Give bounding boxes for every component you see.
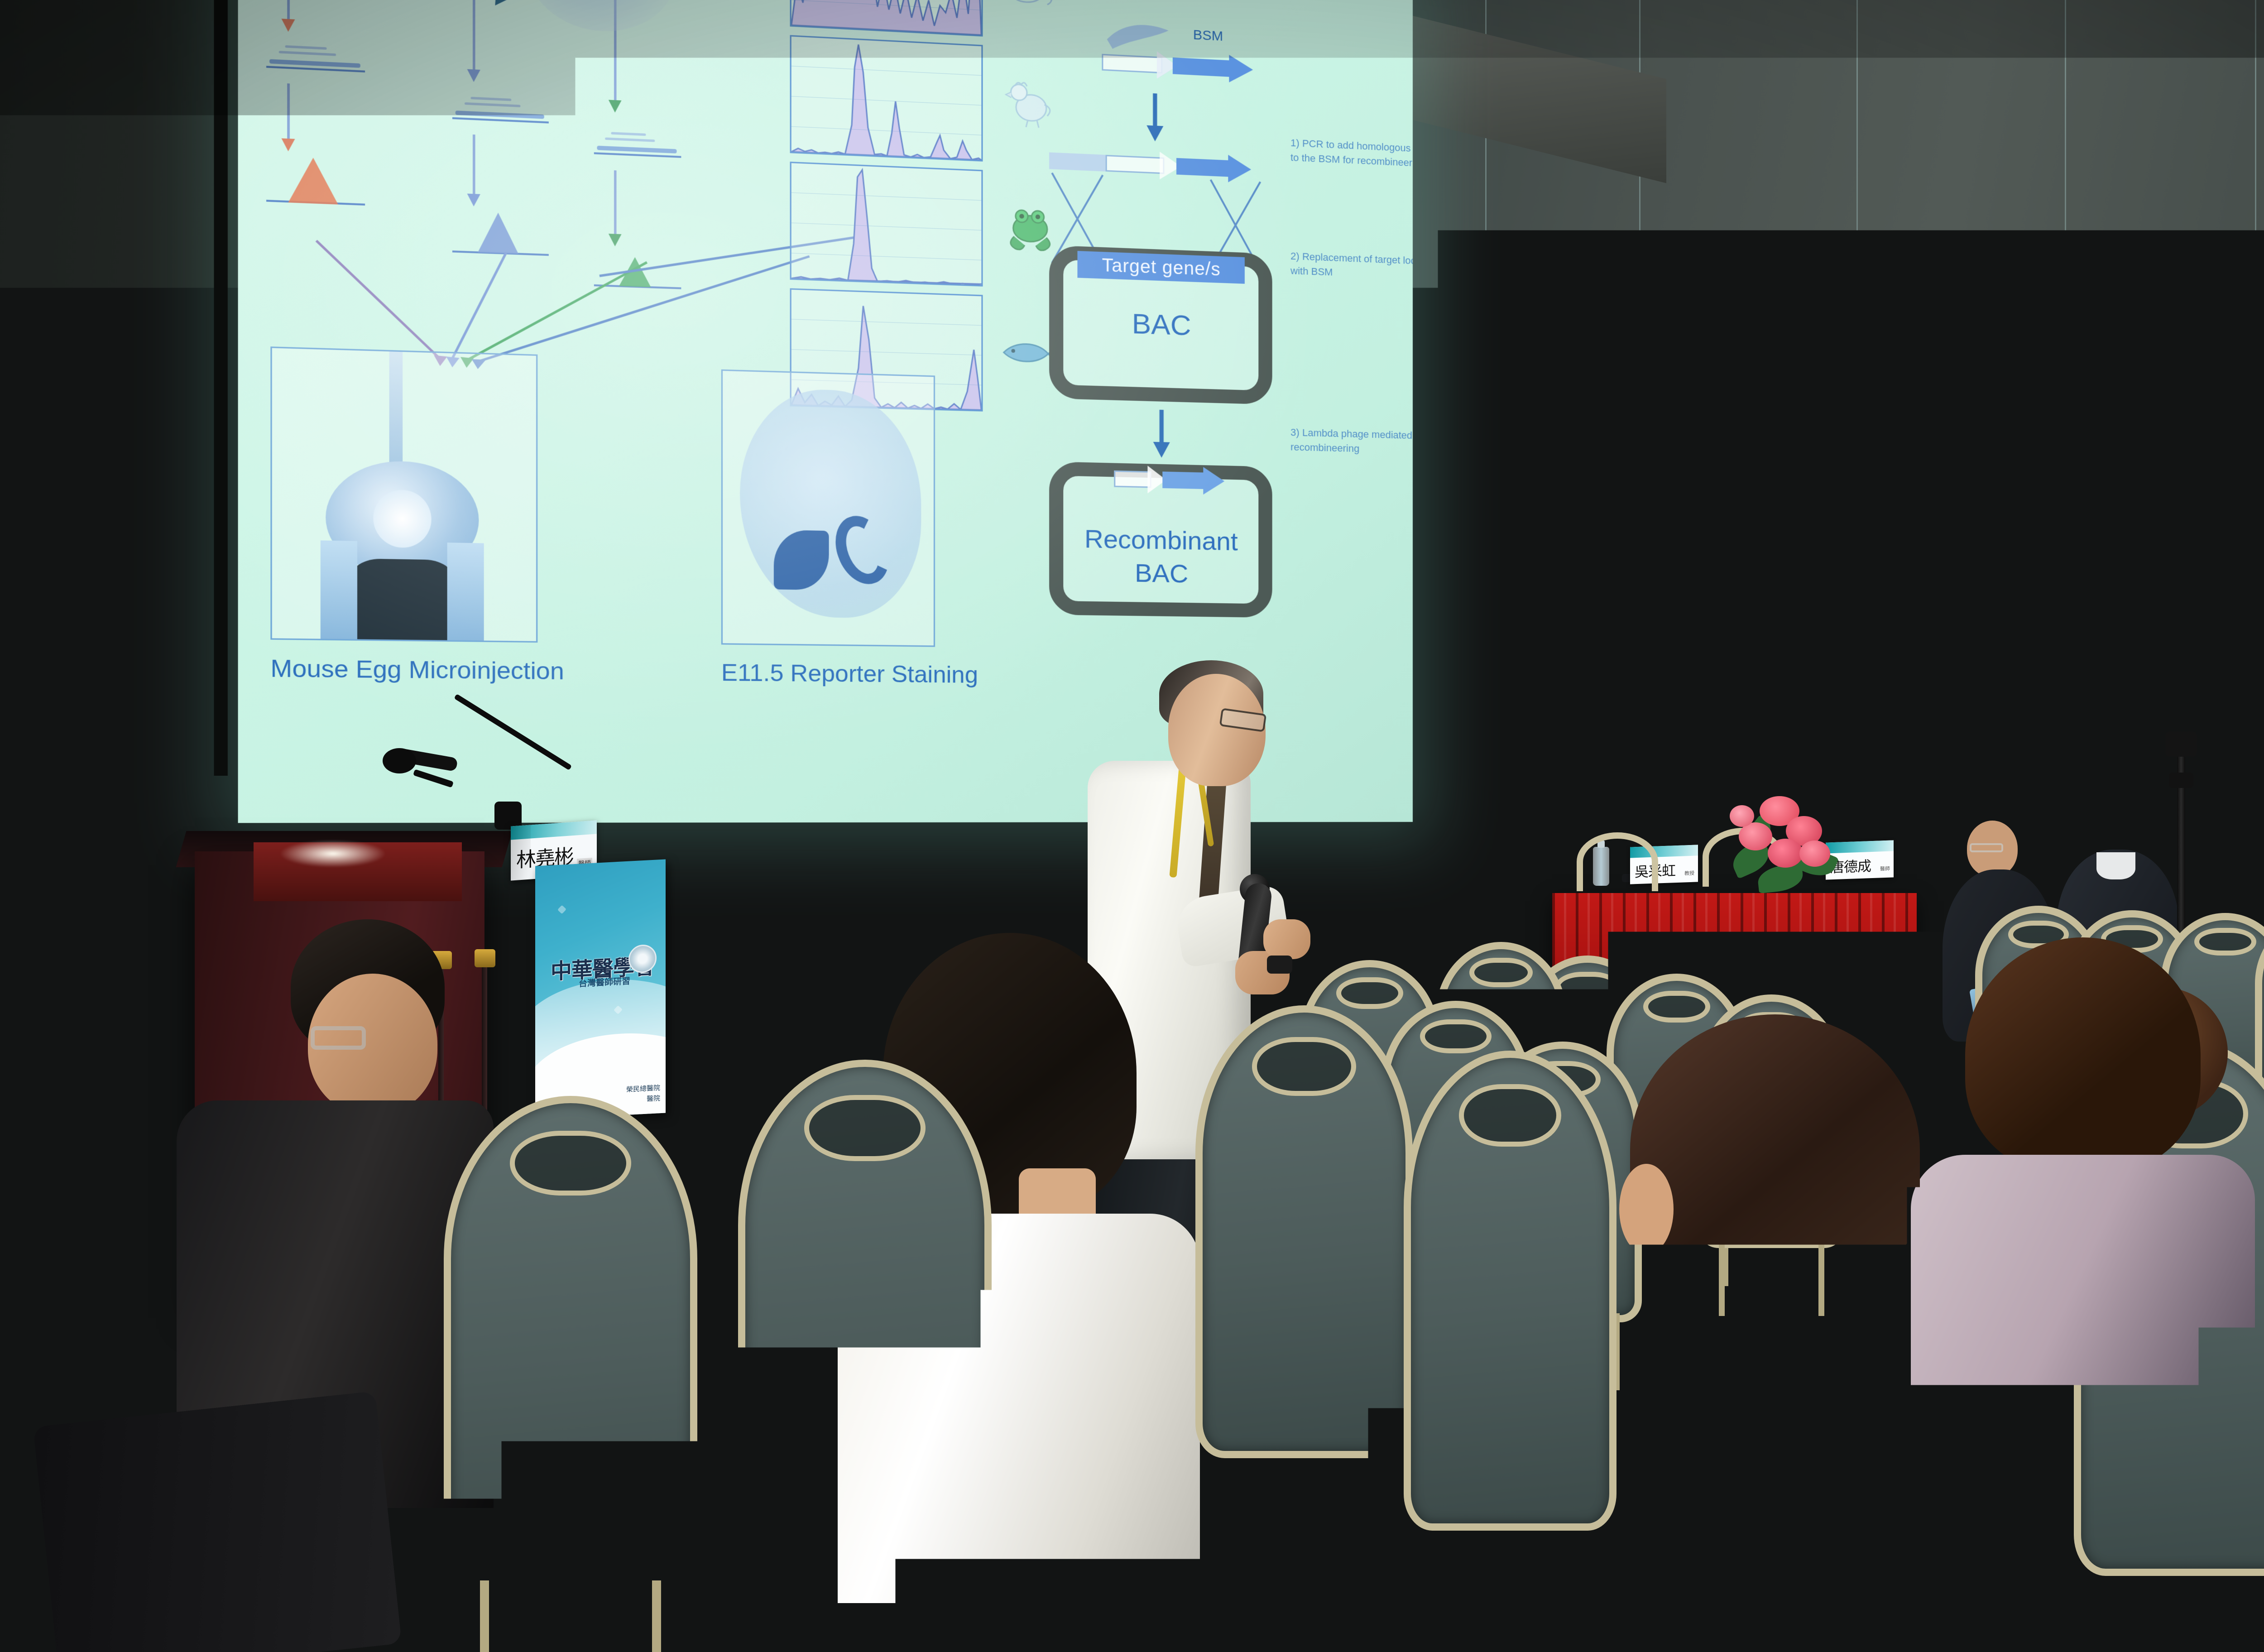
slide-step-1: 1) PCR to add homologous arms to the BSM… bbox=[1290, 136, 1413, 172]
leaf bbox=[1756, 864, 1804, 893]
down-arrow-2 bbox=[1148, 409, 1174, 460]
mouse-egg-caption: Mouse Egg Microinjection bbox=[270, 654, 564, 685]
hair bbox=[1630, 1014, 1920, 1286]
podium-brass-fitting-right bbox=[475, 949, 495, 967]
recombinant-bac-label-1: Recombinant bbox=[1049, 523, 1272, 557]
flower-petal bbox=[1768, 839, 1803, 868]
clicker-icon bbox=[1267, 956, 1292, 974]
presenter-hand-right bbox=[1263, 919, 1310, 959]
flower-arrangement bbox=[1726, 797, 1839, 901]
conservation-track-mouse bbox=[790, 0, 983, 37]
hair bbox=[1965, 937, 2201, 1173]
eyeglasses-icon bbox=[311, 1026, 366, 1050]
inserted-bsm-arrow bbox=[1114, 465, 1253, 496]
reporter-staining-caption: E11.5 Reporter Staining bbox=[721, 659, 978, 688]
chromatin-spray-icon bbox=[435, 0, 607, 31]
rollup-banner: 中華醫學會 台灣醫師研習 榮民總醫院 醫院 bbox=[535, 859, 666, 1119]
lecture-hall-scene: BSM Target gene/s BAC bbox=[0, 0, 2264, 1652]
bsm-label: BSM bbox=[1193, 27, 1223, 44]
slide-step-3: 3) Lambda phage mediated recombineering bbox=[1290, 425, 1413, 458]
ear bbox=[1619, 1164, 1674, 1254]
mouse-egg-microinjection-image bbox=[270, 346, 537, 643]
step-2-num: 2) bbox=[1290, 250, 1300, 262]
step-2-text: Replacement of target locus with BSM bbox=[1290, 251, 1413, 278]
mouse-icon bbox=[1002, 0, 1059, 13]
head-table-chair-1 bbox=[1577, 832, 1658, 891]
chair bbox=[738, 1060, 992, 1567]
shirt-collar bbox=[2096, 852, 2135, 879]
torso-pink-shirt bbox=[1463, 1322, 2029, 1652]
microphone-head bbox=[383, 748, 416, 773]
flower-petal bbox=[1730, 805, 1754, 827]
head-table-title-2: 醫師 bbox=[1880, 865, 1890, 873]
step-1-text: PCR to add homologous arms to the BSM fo… bbox=[1290, 138, 1413, 169]
step-3-num: 3) bbox=[1290, 427, 1300, 438]
bsm-arrow-construct-top bbox=[1102, 48, 1255, 84]
slide-step-2: 2) Replacement of target locus with BSM bbox=[1290, 249, 1413, 283]
recombinant-bac-label-2: BAC bbox=[1049, 556, 1272, 590]
chair bbox=[1195, 1005, 1413, 1458]
legs bbox=[33, 1391, 402, 1652]
light-stand-knob bbox=[2169, 773, 2193, 788]
step-1-num: 1) bbox=[1290, 137, 1300, 149]
banner-dot-1 bbox=[557, 905, 566, 914]
flower-petal bbox=[1799, 840, 1830, 867]
conservation-track-frog bbox=[790, 162, 983, 287]
reporter-staining-image bbox=[721, 370, 935, 647]
peak-shape-orange bbox=[288, 157, 338, 205]
podium-reading-light bbox=[281, 840, 385, 867]
chair bbox=[444, 1096, 697, 1594]
banner-footer-line-1: 榮民總醫院 bbox=[626, 1083, 660, 1095]
conservation-track-chicken bbox=[790, 35, 983, 161]
down-arrow-1 bbox=[1142, 93, 1168, 144]
chicken-icon bbox=[1002, 76, 1059, 130]
eyeglasses-icon bbox=[1970, 843, 2003, 852]
step-3-text: Lambda phage mediated recombineering bbox=[1290, 427, 1412, 454]
light-stand-head bbox=[2165, 731, 2197, 757]
head-table-title-1: 教授 bbox=[1684, 869, 1694, 877]
